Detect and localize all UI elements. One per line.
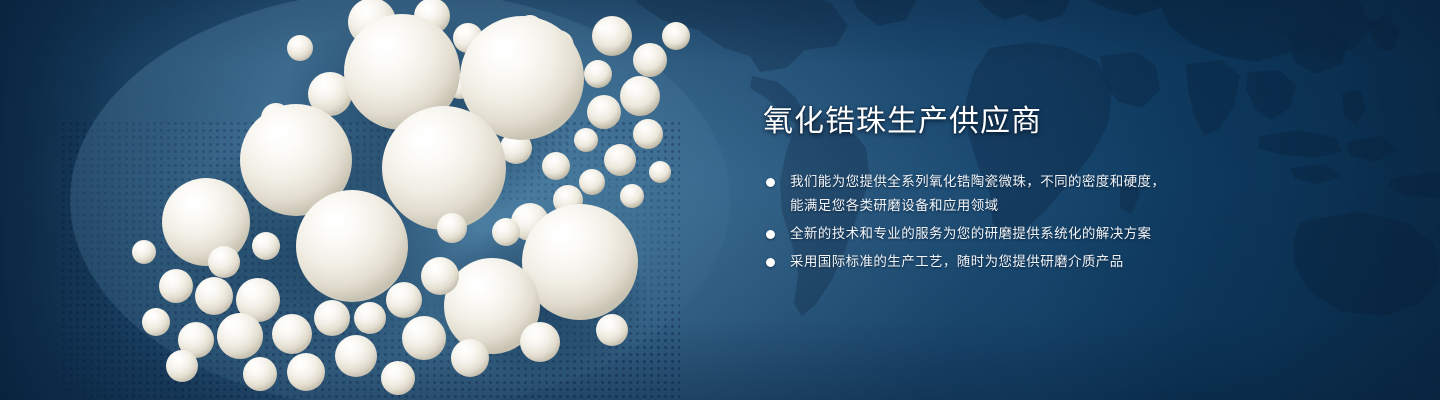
list-item-line1: 我们能为您提供全系列氧化锆陶瓷微珠，不同的密度和硬度， xyxy=(790,174,1165,189)
bullet-dot-icon xyxy=(766,178,775,187)
list-item: 采用国际标准的生产工艺，随时为您提供研磨介质产品 xyxy=(763,250,1383,274)
list-item: 我们能为您提供全系列氧化锆陶瓷微珠，不同的密度和硬度， 能满足您各类研磨设备和应… xyxy=(763,170,1383,218)
list-item-line2: 能满足您各类研磨设备和应用领域 xyxy=(790,194,1383,218)
list-item-line1: 采用国际标准的生产工艺，随时为您提供研磨介质产品 xyxy=(790,254,1124,269)
bullet-dot-icon xyxy=(766,230,775,239)
banner-copy: 氧化锆珠生产供应商 我们能为您提供全系列氧化锆陶瓷微珠，不同的密度和硬度， 能满… xyxy=(763,104,1383,278)
list-item-line1: 全新的技术和专业的服务为您的研磨提供系统化的解决方案 xyxy=(790,226,1151,241)
feature-list: 我们能为您提供全系列氧化锆陶瓷微珠，不同的密度和硬度， 能满足您各类研磨设备和应… xyxy=(763,170,1383,274)
bullet-dot-icon xyxy=(766,258,775,267)
page-title: 氧化锆珠生产供应商 xyxy=(763,104,1383,140)
hero-banner: 氧化锆珠生产供应商 我们能为您提供全系列氧化锆陶瓷微珠，不同的密度和硬度， 能满… xyxy=(0,0,1440,400)
list-item: 全新的技术和专业的服务为您的研磨提供系统化的解决方案 xyxy=(763,222,1383,246)
